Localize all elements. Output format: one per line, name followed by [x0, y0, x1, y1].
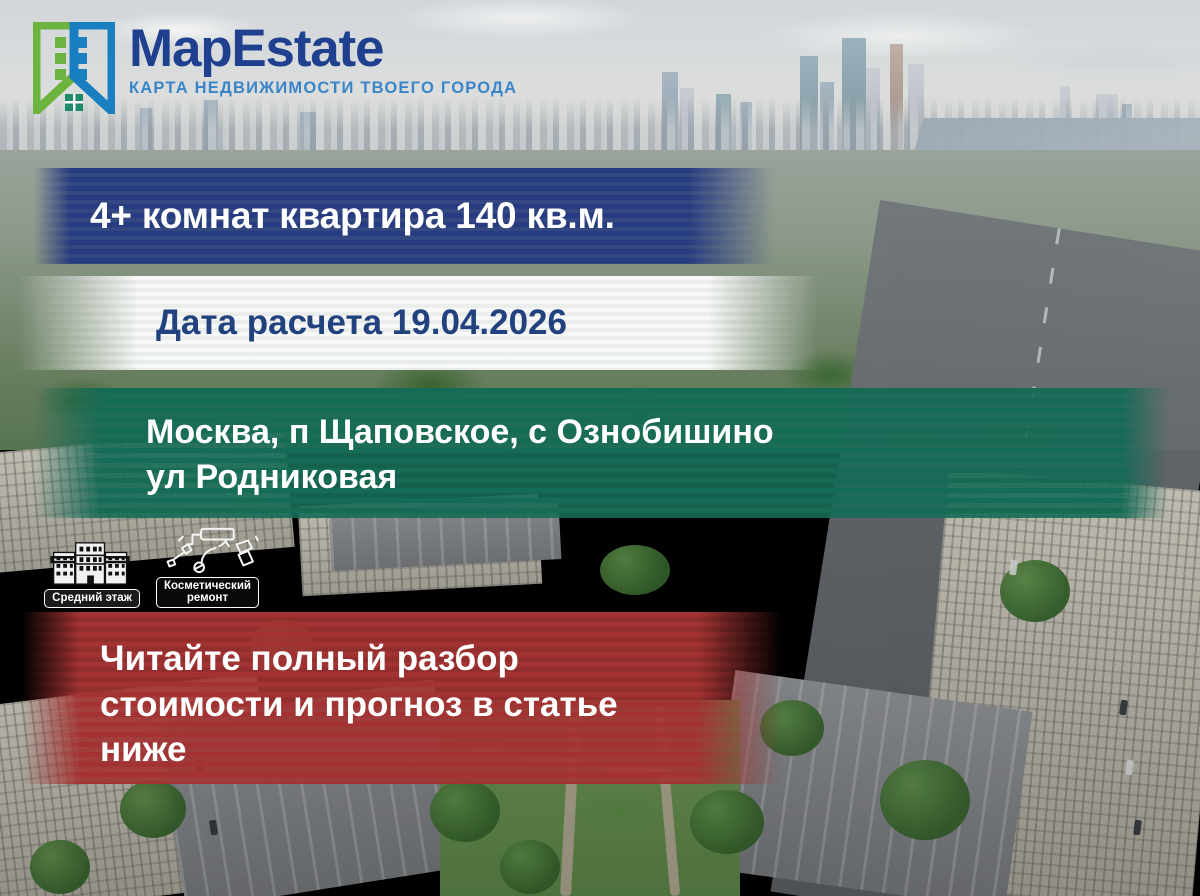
- apartment-building-icon: [44, 539, 136, 587]
- address-text: Москва, п Щаповское, с Ознобишино ул Род…: [34, 388, 774, 500]
- calculation-date-text: Дата расчета 19.04.2026: [18, 303, 567, 343]
- brand-name: MapEstate: [129, 24, 517, 74]
- cta-line-3: ниже: [100, 727, 618, 773]
- feature-badges: Средний этаж: [44, 527, 252, 608]
- brand-logo[interactable]: MapEstate КАРТА НЕДВИЖИМОСТИ ТВОЕГО ГОРО…: [33, 22, 517, 114]
- cta-line-2: стоимости и прогноз в статье: [100, 682, 618, 728]
- cta-line-1: Читайте полный разбор: [100, 636, 618, 682]
- rooms-area-banner: 4+ комнат квартира 140 кв.м.: [34, 168, 774, 264]
- badge-cosmetic-renovation-label: Косметический ремонт: [156, 577, 259, 608]
- paint-roller-brush-tools-icon: [156, 527, 262, 575]
- badge-middle-floor-label: Средний этаж: [44, 589, 140, 607]
- rooms-area-text: 4+ комнат квартира 140 кв.м.: [34, 195, 615, 237]
- calculation-date-banner: Дата расчета 19.04.2026: [18, 276, 818, 370]
- address-banner: Москва, п Щаповское, с Ознобишино ул Род…: [34, 388, 1168, 518]
- brand-text: MapEstate КАРТА НЕДВИЖИМОСТИ ТВОЕГО ГОРО…: [129, 24, 517, 98]
- map-estate-bookmark-building-logo-icon: [33, 22, 115, 114]
- cta-banner: Читайте полный разбор стоимости и прогно…: [22, 612, 782, 784]
- promo-poster: MapEstate КАРТА НЕДВИЖИМОСТИ ТВОЕГО ГОРО…: [0, 0, 1200, 896]
- address-line-1: Москва, п Щаповское, с Ознобишино: [146, 410, 774, 455]
- address-line-2: ул Родниковая: [146, 455, 774, 500]
- cta-text: Читайте полный разбор стоимости и прогно…: [22, 612, 618, 773]
- badge-cosmetic-renovation[interactable]: Косметический ремонт: [156, 527, 252, 608]
- badge-middle-floor[interactable]: Средний этаж: [44, 539, 140, 607]
- brand-tagline: КАРТА НЕДВИЖИМОСТИ ТВОЕГО ГОРОДА: [129, 79, 517, 98]
